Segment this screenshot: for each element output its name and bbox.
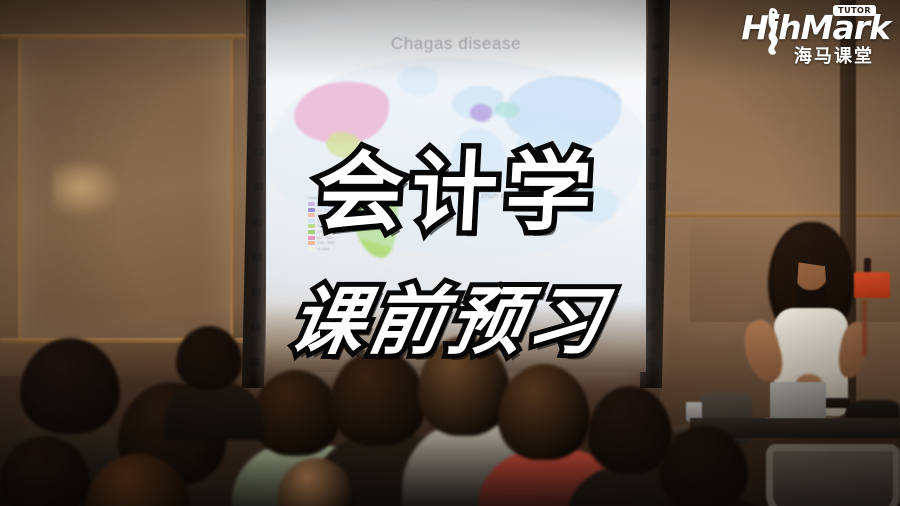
head-silhouette-4 — [330, 350, 426, 446]
head-silhouette-3 — [252, 370, 340, 456]
legend-item: 1.1 - 5.0 — [308, 208, 366, 212]
legend-item: 1001 - 5000 — [308, 241, 366, 245]
screen-clip — [648, 218, 657, 226]
legend-item: 0 - 1.0 — [308, 202, 366, 206]
legend-label: 5.1 - 10 — [317, 213, 329, 217]
bullet-species: T. cruzi — [473, 191, 499, 200]
head-silhouette-12 — [660, 426, 748, 506]
screen-clip — [653, 8, 662, 16]
legend-swatch-icon — [308, 236, 315, 240]
legend-title: Cases per 100,000 — [308, 196, 366, 200]
whiteboard-glare — [52, 162, 122, 218]
screen-clip — [254, 183, 263, 191]
legend-swatch-icon — [308, 224, 315, 228]
legend-item: 101 - 500 — [308, 230, 366, 234]
legend-swatch-icon — [308, 241, 315, 245]
seahorse-icon — [760, 6, 784, 56]
screen-clip — [253, 253, 262, 261]
head-silhouette-1 — [20, 338, 120, 434]
brand-chinese-name: 海马课堂 — [794, 42, 874, 68]
screen-clip — [255, 148, 264, 156]
legend-item: 501 - 1000 — [308, 236, 366, 240]
right-wall-trim — [660, 212, 900, 217]
screen-clip — [257, 43, 266, 51]
bullet-text: causes Chagas disease — [499, 191, 585, 200]
wall-trim-top — [0, 34, 246, 39]
bullet-dot-icon — [466, 195, 469, 198]
legend-label: 1001 - 5000 — [317, 241, 335, 245]
screen-clip — [651, 78, 660, 86]
legend-label: 501 - 1000 — [317, 236, 333, 240]
screen-clip — [648, 253, 657, 261]
legend-label: No data — [317, 247, 329, 251]
legend-swatch-icon — [308, 219, 315, 223]
legend-swatch-icon — [308, 208, 315, 212]
audience — [0, 286, 900, 506]
screen-clip — [650, 148, 659, 156]
legend-swatch-icon — [308, 202, 315, 206]
legend-item: No data — [308, 247, 366, 251]
screen-clip — [256, 78, 265, 86]
legend-label: 51 - 100 — [317, 224, 329, 228]
legend-item: 11 - 50 — [308, 219, 366, 223]
legend-label: 11 - 50 — [317, 219, 327, 223]
video-frame: Chagas disease Cases per 100,000 0 - 1.0… — [0, 0, 900, 506]
head-silhouette-5 — [418, 336, 510, 436]
screen-clip — [650, 113, 659, 121]
head-silhouette-7 — [588, 386, 672, 474]
world-map-graphic — [266, 58, 646, 308]
slide-bullet: T. cruzi causes Chagas disease — [466, 191, 646, 200]
head-silhouette-8 — [176, 326, 242, 390]
head-silhouette-6 — [498, 364, 590, 460]
screen-clip — [255, 113, 264, 121]
legend-swatch-icon — [308, 230, 315, 234]
legend-swatch-icon — [308, 213, 315, 217]
legend-label: 1.1 - 5.0 — [317, 208, 329, 212]
screen-clip — [649, 183, 658, 191]
legend-label: 101 - 500 — [317, 230, 331, 234]
screen-clip — [652, 43, 661, 51]
legend-swatch-icon — [308, 247, 315, 251]
legend-item: 5.1 - 10 — [308, 213, 366, 217]
slide-title: Chagas disease — [266, 34, 646, 54]
legend-item: 51 - 100 — [308, 224, 366, 228]
screen-clip — [253, 218, 262, 226]
map-legend: Cases per 100,000 0 - 1.01.1 - 5.05.1 - … — [308, 196, 366, 252]
legend-label: 0 - 1.0 — [317, 202, 327, 206]
tutor-badge: TUTOR — [833, 5, 876, 16]
brand-logo: HihMark TUTOR 海马课堂 — [700, 4, 890, 66]
